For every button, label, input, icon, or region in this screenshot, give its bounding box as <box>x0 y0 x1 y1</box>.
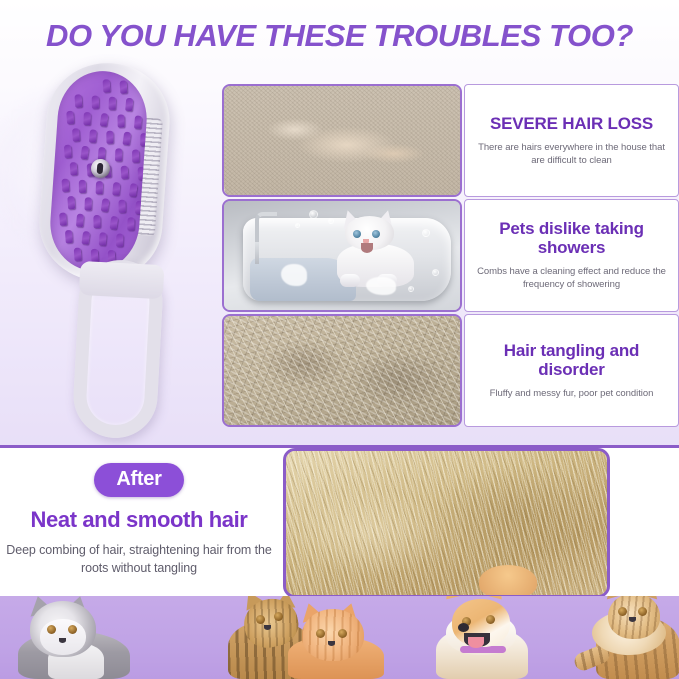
problem-row: SEVERE HAIR LOSS There are hairs everywh… <box>222 84 679 197</box>
dog-eye-right <box>486 615 495 624</box>
bristle <box>103 79 111 92</box>
after-text-block: After Neat and smooth hair Deep combing … <box>0 451 278 603</box>
problem-title: Pets dislike taking showers <box>473 219 670 257</box>
bristle <box>65 230 73 243</box>
bristle <box>106 131 113 144</box>
bristle <box>83 112 90 125</box>
problem-list: SEVERE HAIR LOSS There are hairs everywh… <box>222 84 679 429</box>
cat-nose <box>264 625 271 630</box>
bristle <box>116 234 123 247</box>
bristle <box>74 94 82 107</box>
faucet-icon <box>255 212 277 242</box>
cat-eye-right <box>68 625 77 634</box>
bristle <box>61 178 69 191</box>
orange-cat <box>288 603 384 679</box>
cat-eye-left <box>47 625 56 634</box>
cat-eye-left <box>316 629 325 638</box>
cat-eye-right <box>338 629 347 638</box>
cat-head-peek <box>479 565 537 598</box>
hair-on-carpet-photo <box>222 84 462 197</box>
bristle <box>110 216 119 230</box>
bristle <box>117 114 124 127</box>
after-section: After Neat and smooth hair Deep combing … <box>0 451 679 603</box>
pets-band <box>0 596 679 679</box>
problem-row: Pets dislike taking showers Combs have a… <box>222 199 679 312</box>
problem-title: Hair tangling and disorder <box>473 341 670 379</box>
bristle <box>64 145 72 158</box>
bristle <box>127 217 134 230</box>
bristle <box>134 115 142 129</box>
problems-section: DO YOU HAVE THESE TROUBLES TOO? SEVERE H… <box>0 0 679 448</box>
bristle <box>100 113 109 127</box>
after-title: Neat and smooth hair <box>31 507 248 533</box>
cat-face <box>40 619 86 655</box>
bristle <box>70 162 78 175</box>
bristle <box>91 249 99 262</box>
bathroom-scene <box>224 201 460 310</box>
bristle <box>125 98 133 112</box>
problem-card: SEVERE HAIR LOSS There are hairs everywh… <box>464 84 679 197</box>
bristle <box>72 128 80 141</box>
smooth-fur-texture <box>286 451 607 595</box>
cat-head <box>302 609 364 661</box>
cat-paw-left <box>340 274 360 287</box>
bristle <box>84 197 91 210</box>
maine-coon-cat <box>588 596 679 679</box>
bubble-icon <box>309 210 318 219</box>
bubble-icon <box>295 223 300 228</box>
tangled-fur-photo <box>222 314 462 427</box>
bristle <box>81 231 90 245</box>
dog-tongue <box>468 637 484 648</box>
problem-card: Pets dislike taking showers Combs have a… <box>464 199 679 312</box>
bristle <box>132 149 139 162</box>
bristle <box>109 97 116 110</box>
bristle <box>79 180 86 193</box>
bristle <box>118 200 125 213</box>
bristle <box>115 148 122 161</box>
bristle <box>59 212 67 225</box>
cat-mouth <box>361 243 373 253</box>
bristle <box>76 214 84 228</box>
problem-subtitle: There are hairs everywhere in the house … <box>473 142 670 168</box>
bubble-icon <box>432 269 439 276</box>
after-badge: After <box>94 463 183 497</box>
bristle <box>122 131 131 145</box>
dog-collar <box>460 646 506 653</box>
cat-eye-left <box>353 230 361 238</box>
cat-eye-right <box>638 607 647 616</box>
bristle <box>99 232 107 246</box>
dog-nose <box>458 623 469 632</box>
after-subtitle: Deep combing of hair, straightening hair… <box>0 542 278 577</box>
bristle <box>67 196 75 209</box>
problem-subtitle: Fluffy and messy fur, poor pet condition <box>490 388 654 401</box>
cat-eye-left <box>256 615 265 624</box>
cat-nose <box>629 617 636 622</box>
problem-card: Hair tangling and disorder Fluffy and me… <box>464 314 679 427</box>
cat-eye-right <box>274 612 283 621</box>
tangled-fur-texture <box>224 316 460 425</box>
bristle <box>92 96 99 109</box>
cat-in-bathtub-photo <box>222 199 462 312</box>
product-image <box>18 55 223 440</box>
problem-subtitle: Combs have a cleaning effect and reduce … <box>473 266 670 292</box>
problem-title: SEVERE HAIR LOSS <box>490 114 653 133</box>
bristle <box>74 248 82 261</box>
bristle <box>66 111 74 124</box>
bristle <box>121 166 129 179</box>
bristle <box>96 181 103 194</box>
cat-nose <box>59 638 66 643</box>
problem-row: Hair tangling and disorder Fluffy and me… <box>222 314 679 427</box>
bristle <box>129 183 138 197</box>
bristle <box>112 182 120 196</box>
bristle <box>80 146 89 160</box>
bristle <box>89 129 97 143</box>
smooth-golden-fur-photo <box>283 448 610 598</box>
carpet-texture <box>224 86 460 195</box>
cat-eye-left <box>618 607 627 616</box>
cat-nose <box>328 641 335 646</box>
bristle <box>119 80 127 93</box>
brush-handle <box>71 258 164 440</box>
page-title: DO YOU HAVE THESE TROUBLES TOO? <box>0 18 679 54</box>
bristle <box>101 198 110 212</box>
corgi-dog <box>420 596 542 679</box>
dog-ear-left <box>438 596 469 599</box>
bristle <box>93 215 100 228</box>
british-shorthair-cat <box>14 596 132 679</box>
